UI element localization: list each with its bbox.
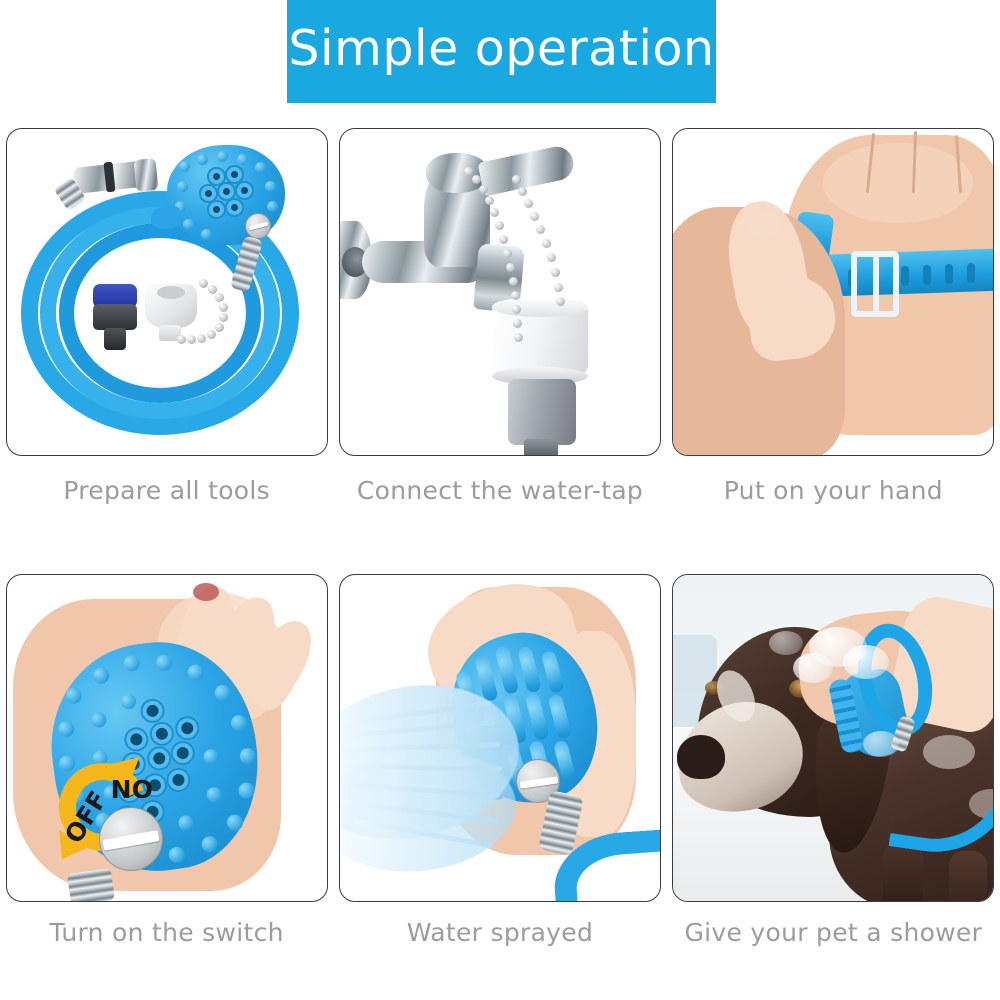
faucet-lever [477, 144, 576, 197]
scrubber-nub [120, 693, 137, 710]
header-banner: Simple operation [287, 0, 716, 103]
bristle [494, 645, 519, 695]
scrubber-nub [267, 201, 278, 212]
chain-bead [514, 333, 523, 342]
step-image-6 [672, 574, 994, 902]
step-image-1 [6, 128, 328, 456]
scrubber-nub [255, 162, 266, 173]
step-card-4: NO OFF Turn on the switch [0, 552, 333, 992]
scene-strap-on-hand [673, 129, 993, 455]
tap-adapter-body [93, 304, 137, 330]
bristle [548, 694, 572, 740]
spray-hole [231, 171, 238, 178]
chain-bead [524, 199, 533, 208]
spray-hole [231, 204, 238, 211]
scene-product-kit [7, 129, 327, 455]
scrubber-side-tab [151, 207, 179, 229]
scrubber-nub [57, 720, 75, 738]
steps-grid: Prepare all tools [0, 112, 1000, 992]
scrubber-nub [122, 654, 140, 672]
scrubber-nub [238, 747, 256, 765]
scrubber-nub [205, 786, 222, 803]
strap-hole [901, 266, 909, 286]
chain-bead [509, 277, 518, 286]
step-image-5 [339, 574, 661, 902]
scrubber-nub [197, 154, 208, 165]
step-card-6: Give your pet a shower [667, 552, 1000, 992]
scrubber-nub [265, 181, 276, 192]
switch-on-label: NO [111, 775, 153, 804]
step-caption-4: Turn on the switch [50, 918, 284, 947]
chain-bead [551, 268, 560, 277]
dog-nose [677, 735, 725, 779]
step-image-4: NO OFF [6, 574, 328, 902]
strap-hole [945, 264, 953, 284]
scrubber-nub [167, 846, 185, 864]
scrubber-nub [177, 181, 188, 192]
bristle [517, 645, 542, 693]
scene-switch-in-palm: NO OFF [7, 575, 327, 901]
step-caption-2: Connect the water-tap [357, 476, 643, 505]
chain-bead [215, 323, 224, 332]
scrubber-nub [202, 748, 219, 765]
chain-bead [556, 297, 565, 306]
spray-hole [145, 704, 159, 718]
spray-hole [171, 773, 185, 787]
step-card-2: Connect the water-tap [333, 112, 666, 552]
dog-leg [883, 843, 923, 902]
scrubber-nub [237, 154, 248, 165]
step-caption-1: Prepare all tools [63, 476, 270, 505]
scrubber-nub [58, 754, 76, 772]
chain-bead [536, 225, 545, 234]
strap-hole [923, 265, 931, 285]
soap-suds [843, 645, 889, 679]
step-card-5: Water sprayed [333, 552, 666, 992]
scrubber-nub [177, 814, 194, 831]
bristle [524, 691, 549, 741]
spray-hole [180, 721, 194, 735]
white-adapter-top-rim [492, 297, 588, 317]
chain-bead [479, 185, 488, 194]
spray-hole [213, 173, 220, 180]
chain-bead [472, 175, 481, 184]
scrubber-head [167, 145, 285, 245]
step-image-3 [672, 128, 994, 456]
quick-connect-tip [524, 439, 558, 456]
scene-washing-dog [673, 575, 993, 901]
chain-bead [490, 208, 499, 217]
scrubber-nub [201, 229, 212, 240]
spray-hole [223, 188, 230, 195]
scrubber-nub [92, 667, 110, 685]
step-caption-6: Give your pet a shower [684, 918, 982, 947]
scrubber-nub [64, 687, 82, 705]
chain-bead [187, 335, 196, 344]
flex-neck [67, 868, 115, 902]
quick-connect [508, 379, 576, 445]
scrubber-nub [230, 714, 248, 732]
chain-bead [554, 283, 563, 292]
tap-adapter-stem [104, 328, 126, 350]
bristle [541, 650, 565, 694]
chain-bead [219, 313, 228, 322]
nail [193, 583, 219, 601]
knuckle-highlight [823, 143, 973, 223]
chain-bead [512, 175, 521, 184]
chain-bead [512, 305, 521, 314]
chain-bead [511, 291, 520, 300]
chain-bead [495, 221, 504, 230]
chain-bead [485, 196, 494, 205]
scrubber-nub [90, 711, 107, 728]
dog-leg [949, 851, 987, 902]
scrubber-nub [213, 684, 231, 702]
chain-bead [215, 293, 224, 302]
chain-bead [506, 263, 515, 272]
scrubber-nub [217, 151, 228, 162]
chain-bead [530, 212, 539, 221]
chain-bead [542, 239, 551, 248]
page-title: Simple operation [288, 24, 714, 79]
chain-bead [499, 235, 508, 244]
scrubber-nub [179, 161, 190, 172]
infographic-page: Simple operation [0, 0, 1000, 1000]
chain-bead [199, 279, 208, 288]
step-caption-5: Water sprayed [407, 918, 593, 947]
strap-hole [967, 263, 975, 283]
chain-bead [177, 335, 186, 344]
step-card-3: Put on your hand [667, 112, 1000, 552]
white-adapter-bore [157, 286, 185, 299]
chain-bead [547, 253, 556, 262]
buckle-prong [873, 255, 879, 313]
spray-hole [152, 752, 166, 766]
scrubber-nub [200, 835, 218, 853]
chain-bead [513, 319, 522, 328]
spray-hole [155, 727, 169, 741]
chain-bead [207, 330, 216, 339]
chain-bead [464, 167, 473, 176]
coupling-nut [133, 158, 158, 192]
scrubber-nub [183, 219, 194, 230]
chain-bead [503, 249, 512, 258]
spray-hole [213, 206, 220, 213]
scrubber-nub [186, 663, 204, 681]
spray-hole [176, 746, 190, 760]
step-card-1: Prepare all tools [0, 112, 333, 552]
spray-hole [129, 733, 143, 747]
spray-hole [205, 190, 212, 197]
scene-faucet-connection [340, 129, 660, 455]
scrubber-nub [237, 782, 255, 800]
spray-hole [241, 187, 248, 194]
chain-bead [219, 303, 228, 312]
step-caption-3: Put on your hand [724, 476, 943, 505]
scrubber-nub [155, 654, 173, 672]
chain-bead [197, 334, 206, 343]
chain-bead [518, 187, 527, 196]
scene-water-spraying [340, 575, 660, 901]
step-image-2 [339, 128, 661, 456]
chain-bead [208, 285, 217, 294]
